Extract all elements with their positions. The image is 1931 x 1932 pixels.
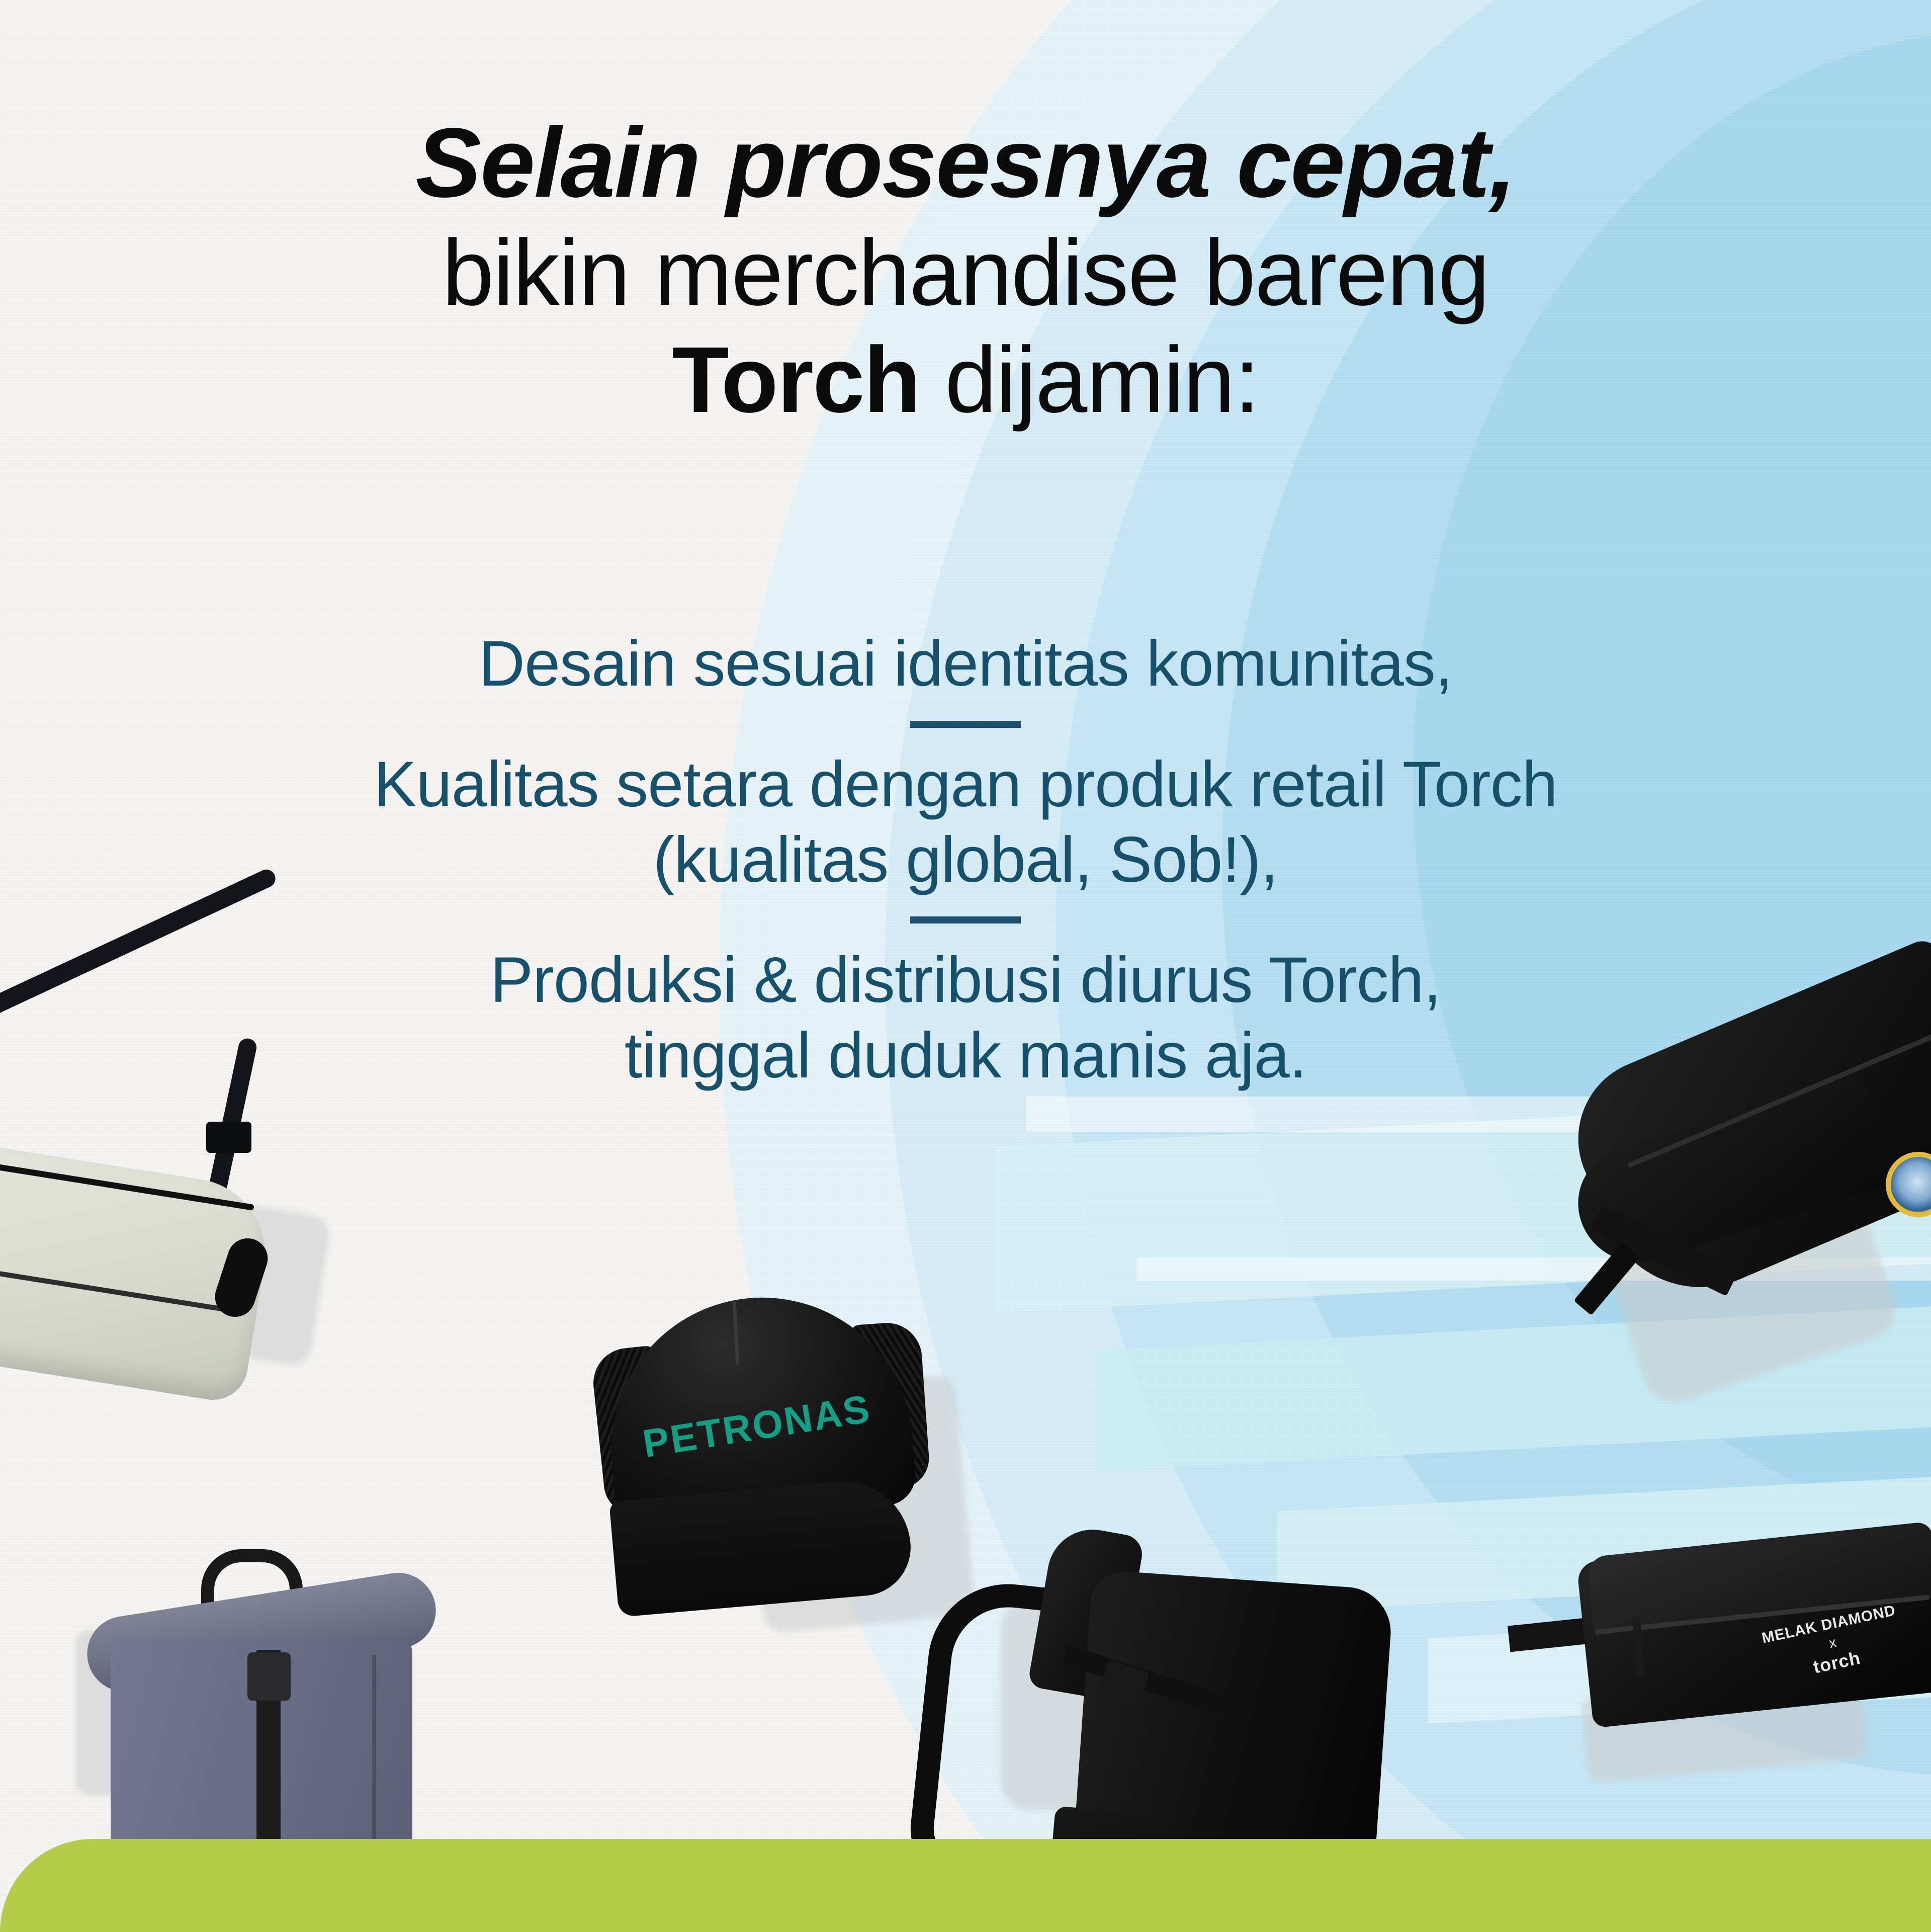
product-pouch-melak-diamond: MELAK DIAMOND x torch <box>1539 1539 1931 1750</box>
promo-canvas: Selain prosesnya cepat, bikin merchandis… <box>0 0 1931 1932</box>
product-sling-bag-black <box>1554 1001 1931 1413</box>
product-rolltop-backpack-grey <box>91 1554 437 1876</box>
sling-buckle <box>206 1122 251 1153</box>
headline-block: Selain prosesnya cepat, bikin merchandis… <box>0 111 1931 430</box>
benefit-item-1: Desain sesuai identitas komunitas, <box>0 626 1931 702</box>
headline-line-3-rest: dijamin: <box>920 328 1259 432</box>
benefit-separator-1 <box>910 721 1021 728</box>
footer-green-bar <box>0 1839 1931 1932</box>
headline-line-1: Selain prosesnya cepat, <box>0 111 1931 215</box>
benefit-item-2-line-2: (kualitas global, Sob!), <box>0 822 1931 898</box>
rolltop-buckle <box>247 1652 291 1701</box>
sling-right-strap-end <box>1573 1243 1640 1315</box>
product-sling-bag-sage <box>0 956 297 1398</box>
product-trucker-cap-petronas: PETRONAS <box>593 1288 945 1640</box>
headline-line-2: bikin merchandise bareng <box>0 223 1931 322</box>
benefit-item-2-line-1: Kualitas setara dengan produk retail Tor… <box>0 747 1931 822</box>
benefit-separator-2 <box>910 916 1021 923</box>
headline-line-3: Torch dijamin: <box>0 330 1931 430</box>
brand-name-torch: Torch <box>672 328 920 432</box>
